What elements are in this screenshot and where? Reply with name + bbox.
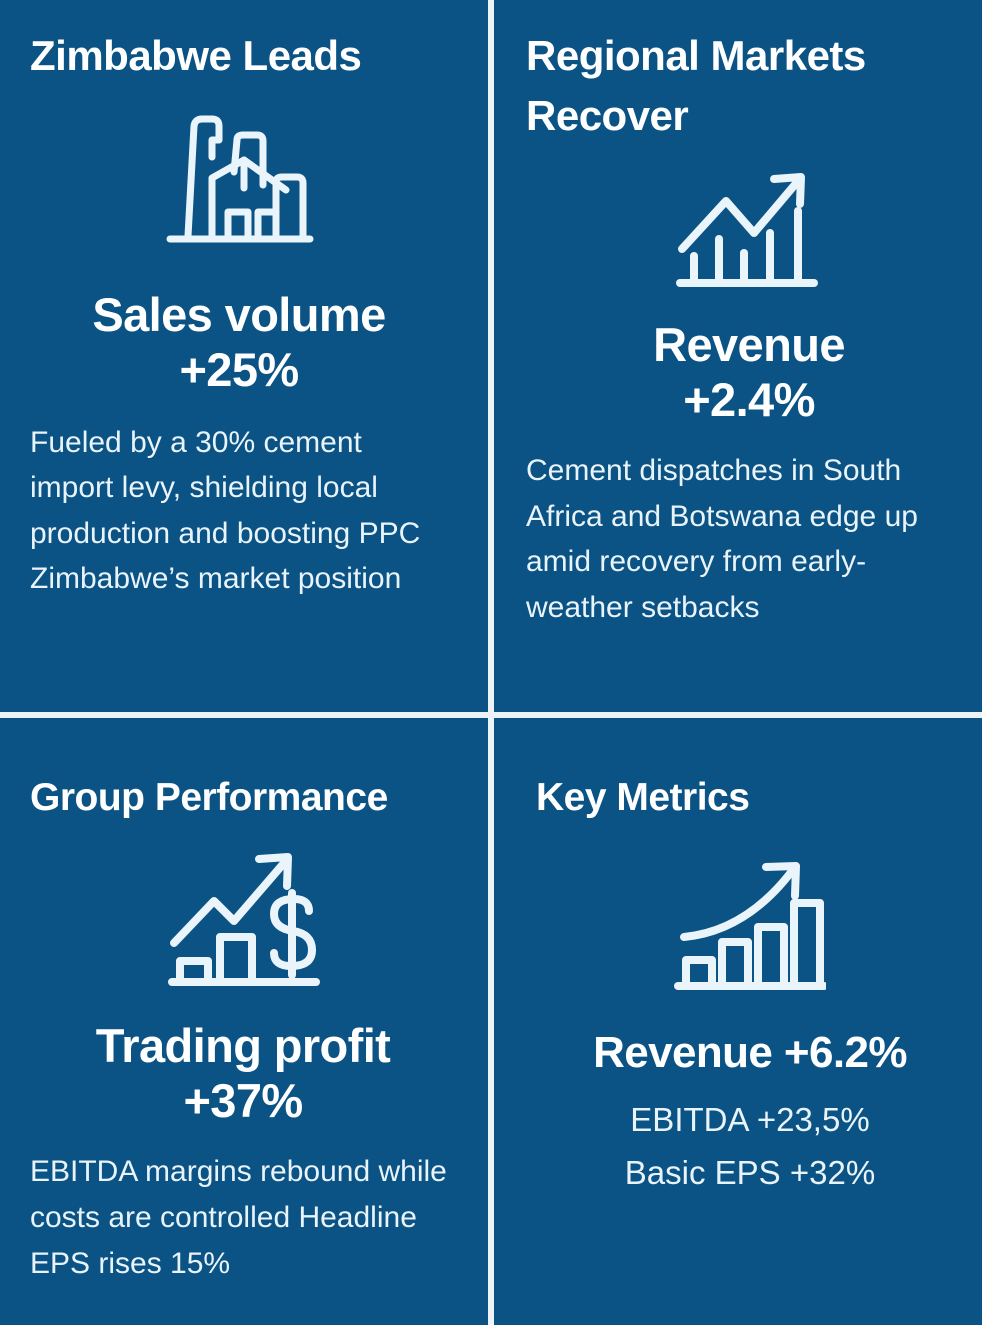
metric-sales-volume: Sales volume +25% <box>30 288 448 398</box>
dollar-growth-chart-icon <box>30 845 456 993</box>
panel-heading-regional-markets-recover: Regional Markets Recover <box>526 26 972 145</box>
metric-revenue-key: Revenue +6.2% <box>536 1027 964 1078</box>
panel-key-metrics: Key Metrics Revenue +6.2% <box>494 718 982 1325</box>
infographic-grid: Zimbabwe Leads <box>0 0 982 1325</box>
metric-label: Trading profit <box>30 1019 456 1074</box>
panel-body-zimbabwe-leads: Fueled by a 30% cement import levy, shie… <box>30 420 448 602</box>
metric-value: Revenue +6.2% <box>536 1027 964 1078</box>
metric-label: Sales volume <box>30 288 448 343</box>
metric-value: +2.4% <box>526 373 972 428</box>
factory-icon <box>30 110 448 250</box>
line-chart-arrow-up-icon <box>526 167 972 292</box>
panel-body-regional-markets-recover: Cement dispatches in South Africa and Bo… <box>526 448 972 630</box>
panel-zimbabwe-leads: Zimbabwe Leads <box>0 0 488 712</box>
panel-regional-markets-recover: Regional Markets Recover Reven <box>494 0 982 712</box>
metric-value: +37% <box>30 1074 456 1129</box>
panel-heading-zimbabwe-leads: Zimbabwe Leads <box>30 26 448 86</box>
ascending-bar-chart-arrow-icon <box>536 855 964 997</box>
panel-heading-group-performance: Group Performance <box>30 770 456 825</box>
key-metrics-sub-list: EBITDA +23,5% Basic EPS +32% <box>536 1093 964 1200</box>
panel-body-group-performance: EBITDA margins rebound while costs are c… <box>30 1149 456 1286</box>
metric-label: Revenue <box>526 318 972 373</box>
panel-group-performance: Group Performance Trading prof <box>0 718 488 1325</box>
key-metric-ebitda: EBITDA +23,5% <box>536 1093 964 1146</box>
metric-value: +25% <box>30 343 448 398</box>
metric-revenue: Revenue +2.4% <box>526 318 972 428</box>
metric-trading-profit: Trading profit +37% <box>30 1019 456 1129</box>
panel-heading-key-metrics: Key Metrics <box>536 770 964 825</box>
key-metric-basic-eps: Basic EPS +32% <box>536 1146 964 1199</box>
